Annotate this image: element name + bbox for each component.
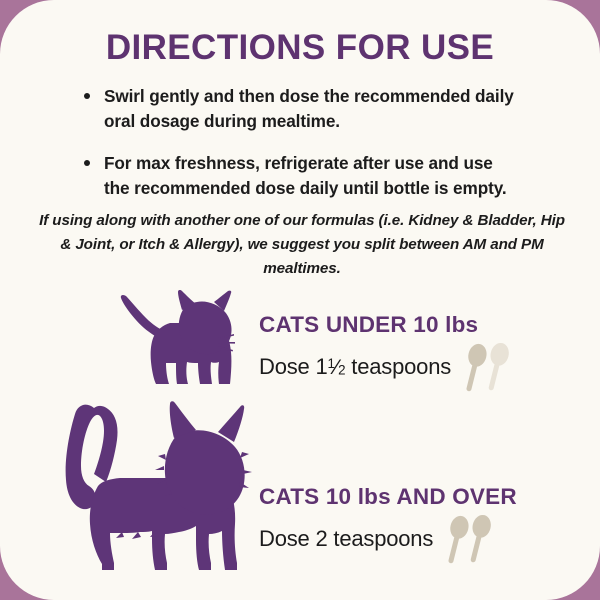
list-item-text: For max freshness, refrigerate after use… [104,153,507,198]
spoon-full-icon [442,514,471,565]
spoon-half-icon [482,341,511,392]
formula-combination-note: If using along with another one of our f… [38,209,566,281]
bullet-dot-icon [84,160,90,166]
dose-prefix: Dose 2 teaspoons [259,526,433,551]
list-item-text: Swirl gently and then dose the recommend… [104,86,514,131]
instructions-list: Swirl gently and then dose the recommend… [82,84,522,201]
content-panel: DIRECTIONS FOR USE Swirl gently and then… [0,0,600,600]
dose-amount-text: Dose 11⁄2 teaspoons [259,354,451,380]
list-item: For max freshness, refrigerate after use… [82,151,522,201]
fraction: 1⁄2 [328,354,346,379]
dose-suffix: teaspoons [345,354,451,379]
spoon-full-icon [460,342,489,393]
dose-heading: CATS UNDER 10 lbs [259,312,511,338]
kitten-silhouette-icon [118,290,236,393]
dose-info-under-10lbs: CATS UNDER 10 lbs Dose 11⁄2 teaspoons [259,312,511,395]
fraction-numerator: 1 [328,356,335,371]
spoon-measure-group [459,339,511,395]
spoon-full-icon [464,513,493,564]
page-title: DIRECTIONS FOR USE [0,28,600,68]
spoon-measure-group [441,511,493,567]
dose-heading: CATS 10 lbs AND OVER [259,484,517,510]
dose-info-10lbs-and-over: CATS 10 lbs AND OVER Dose 2 teaspoons [259,484,517,567]
adult-cat-silhouette-icon [52,400,252,577]
bullet-dot-icon [84,93,90,99]
dose-row-10lbs-and-over: CATS 10 lbs AND OVER Dose 2 teaspoons [0,398,600,573]
dose-row-under-10lbs: CATS UNDER 10 lbs Dose 11⁄2 teaspoons [0,278,600,398]
dose-amount-text: Dose 2 teaspoons [259,526,433,552]
directions-for-use-infographic: DIRECTIONS FOR USE Swirl gently and then… [0,0,600,600]
list-item: Swirl gently and then dose the recommend… [82,84,522,134]
dose-prefix: Dose 1 [259,354,328,379]
